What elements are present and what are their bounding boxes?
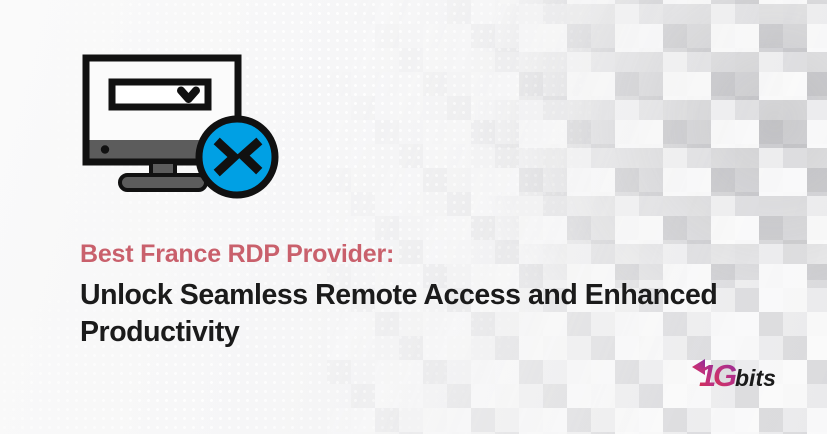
dropdown-field-icon [112, 82, 208, 107]
remote-desktop-monitor-icon [80, 52, 280, 200]
page-title: Unlock Seamless Remote Access and Enhanc… [80, 277, 780, 352]
headline-line-1: Unlock Seamless Remote Access and Enhanc… [80, 277, 780, 315]
monitor-stand [120, 162, 206, 190]
eyebrow-title: Best France RDP Provider: [80, 239, 780, 270]
remote-access-badge [199, 119, 275, 195]
brand-logo: 1 G bits [691, 353, 787, 395]
banner-image: Best France RDP Provider: Unlock Seamles… [0, 0, 827, 434]
logo-bits-text: bits [735, 365, 776, 391]
power-indicator-dot [101, 145, 109, 153]
banner-text-block: Best France RDP Provider: Unlock Seamles… [80, 239, 780, 352]
logo-g-text: G [713, 358, 737, 393]
headline-line-2: Productivity [80, 314, 780, 352]
